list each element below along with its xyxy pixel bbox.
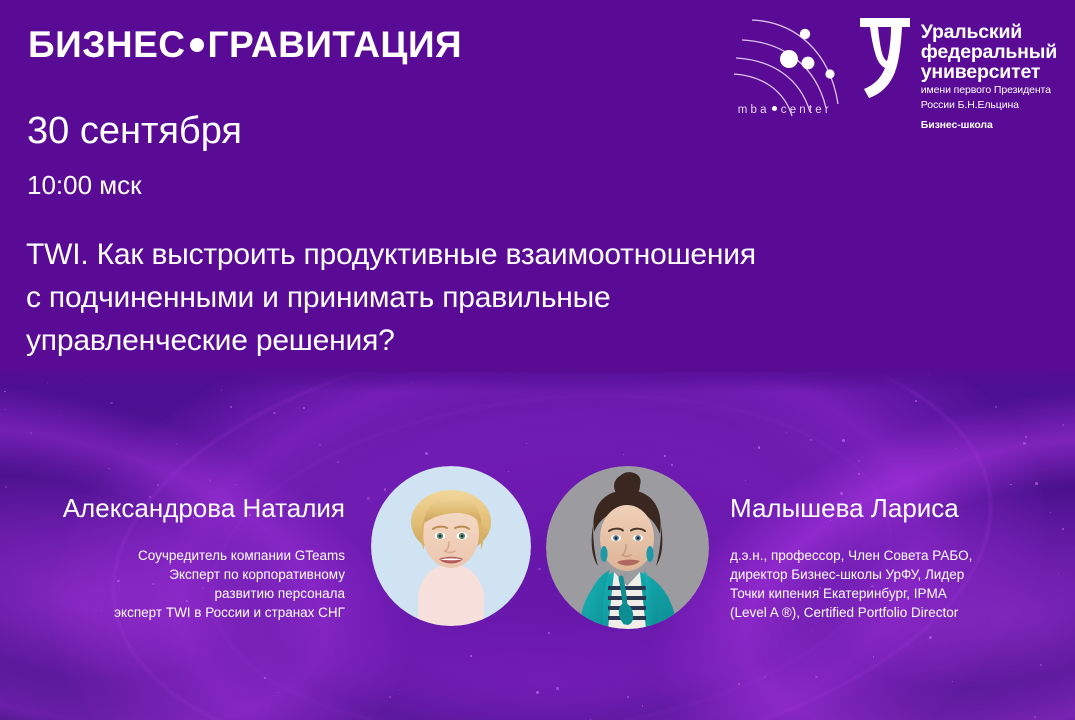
event-headline: TWI. Как выстроить продуктивные взаимоот… <box>26 234 1036 363</box>
headline-line-1: TWI. Как выстроить продуктивные взаимоот… <box>26 234 1036 277</box>
logo-cluster: mbacenter Уральский федеральный универси… <box>734 12 1057 131</box>
speaker-left-avatar <box>371 466 531 626</box>
speaker-right-desc-line-3: Точки кипения Екатеринбург, IPMA <box>730 584 1070 603</box>
speaker-right: Малышева Лариса д.э.н., профессор, Член … <box>730 494 1070 623</box>
urfu-u-mark-icon <box>856 16 914 100</box>
headline-line-2: с подчиненными и принимать правильные <box>26 277 1036 320</box>
speaker-left-name: Александрова Наталия <box>0 494 345 523</box>
brand-title-before: БИЗНЕС <box>28 24 186 65</box>
urfu-line-2: федеральный <box>921 42 1057 62</box>
mba-center-wordmark: mbacenter <box>738 104 832 116</box>
speaker-left-desc-line-4: эксперт TWI в России и странах СНГ <box>0 603 345 622</box>
urfu-logo: Уральский федеральный университет имени … <box>856 12 1057 131</box>
urfu-sub-2: России Б.Н.Ельцина <box>921 100 1057 112</box>
poster-canvas: БИЗНЕСГРАВИТАЦИЯ mbacenter <box>0 0 1075 720</box>
speaker-left-desc-line-2: Эксперт по корпоративному <box>0 565 345 584</box>
headline-line-3: управленческие решения? <box>26 320 1036 363</box>
urfu-line-3: университет <box>921 62 1057 82</box>
urfu-line-1: Уральский <box>921 22 1057 42</box>
avatar-photo-2 <box>546 466 709 629</box>
mba-dot-icon <box>772 106 777 111</box>
speaker-right-name: Малышева Лариса <box>730 494 1070 523</box>
urfu-sub-1: имени первого Президента <box>921 85 1057 97</box>
speaker-right-desc-line-1: д.э.н., профессор, Член Совета РАБО, <box>730 546 1070 565</box>
speaker-left: Александрова Наталия Соучредитель компан… <box>0 494 345 623</box>
speaker-left-desc-line-1: Соучредитель компании GTeams <box>0 546 345 565</box>
event-date: 30 сентября <box>27 112 242 150</box>
urfu-wordmark: Уральский федеральный университет имени … <box>921 16 1057 131</box>
speaker-right-desc-line-2: директор Бизнес-школы УрФУ, Лидер <box>730 565 1070 584</box>
mba-word-after: center <box>781 104 832 116</box>
speaker-right-desc-line-4: (Level A ®), Certified Portfolio Directo… <box>730 603 1070 622</box>
brand-title-after: ГРАВИТАЦИЯ <box>208 24 463 65</box>
bullet-dot-icon <box>190 38 204 52</box>
event-time: 10:00 мск <box>27 172 142 198</box>
mba-word-before: mba <box>738 104 770 116</box>
speaker-right-description: д.э.н., профессор, Член Совета РАБО, дир… <box>730 546 1070 623</box>
background-seam <box>0 366 1075 392</box>
speaker-left-desc-line-3: развитию персонала <box>0 584 345 603</box>
avatar-photo-1 <box>371 466 531 626</box>
brand-title: БИЗНЕСГРАВИТАЦИЯ <box>28 26 462 63</box>
mba-center-logo: mbacenter <box>734 12 852 122</box>
speaker-right-avatar <box>546 466 709 629</box>
speaker-left-description: Соучредитель компании GTeams Эксперт по … <box>0 546 345 623</box>
urfu-tagline: Бизнес-школа <box>921 119 1057 131</box>
